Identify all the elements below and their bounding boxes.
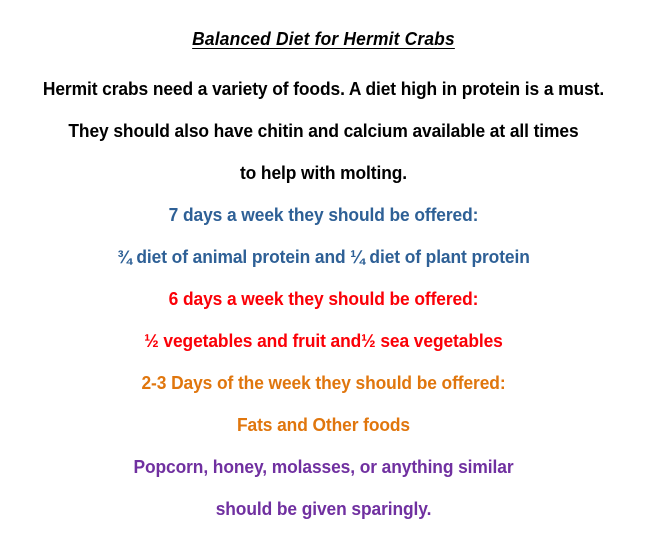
two-three-days-detail: Fats and Other foods [19, 404, 627, 446]
six-days-heading: 6 days a week they should be offered: [19, 278, 627, 320]
seven-days-heading: 7 days a week they should be offered: [19, 194, 627, 236]
sparingly-line-2: should be given sparingly. [19, 488, 627, 530]
two-three-days-heading: 2-3 Days of the week they should be offe… [19, 362, 627, 404]
intro-line-3: to help with molting. [19, 152, 627, 194]
six-days-detail: ½ vegetables and fruit and½ sea vegetabl… [19, 320, 627, 362]
title-spacer [0, 60, 647, 68]
intro-line-2: They should also have chitin and calcium… [19, 110, 627, 152]
document-title: Balanced Diet for Hermit Crabs [19, 18, 627, 60]
seven-days-detail: ¾ diet of animal protein and ¼ diet of p… [19, 236, 627, 278]
intro-line-1: Hermit crabs need a variety of foods. A … [19, 68, 627, 110]
sparingly-line-1: Popcorn, honey, molasses, or anything si… [19, 446, 627, 488]
document-body: Balanced Diet for Hermit Crabs Hermit cr… [0, 0, 647, 534]
